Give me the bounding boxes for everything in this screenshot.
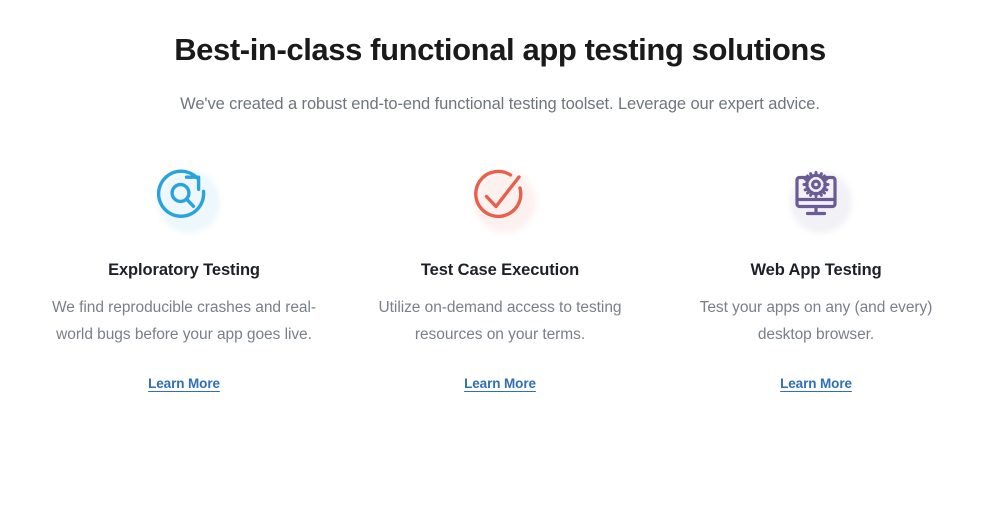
page-title: Best-in-class functional app testing sol…	[0, 31, 1000, 70]
card-icon-wrapper	[452, 154, 548, 240]
card-title: Exploratory Testing	[108, 261, 260, 280]
card-description: We find reproducible crashes and real-wo…	[49, 294, 319, 349]
section-header: Best-in-class functional app testing sol…	[0, 0, 1000, 117]
page-subtitle: We've created a robust end-to-end functi…	[0, 93, 1000, 117]
learn-more-link[interactable]: Learn More	[780, 376, 852, 391]
feature-card-test-case-execution: Test Case Execution Utilize on-demand ac…	[342, 154, 658, 391]
card-description: Utilize on-demand access to testing reso…	[365, 294, 635, 349]
feature-section: Best-in-class functional app testing sol…	[0, 0, 1000, 528]
check-circle-icon	[463, 160, 537, 234]
learn-more-link[interactable]: Learn More	[464, 376, 536, 391]
card-icon-wrapper	[768, 154, 864, 240]
monitor-gear-icon	[779, 160, 853, 234]
feature-card-web-app-testing: Web App Testing Test your apps on any (a…	[658, 154, 974, 391]
card-description: Test your apps on any (and every) deskto…	[681, 294, 951, 349]
feature-card-list: Exploratory Testing We find reproducible…	[0, 154, 1000, 391]
card-title: Test Case Execution	[421, 261, 579, 280]
card-title: Web App Testing	[750, 261, 881, 280]
feature-card-exploratory-testing: Exploratory Testing We find reproducible…	[26, 154, 342, 391]
card-icon-wrapper	[136, 154, 232, 240]
refresh-search-icon	[147, 160, 221, 234]
learn-more-link[interactable]: Learn More	[148, 376, 220, 391]
